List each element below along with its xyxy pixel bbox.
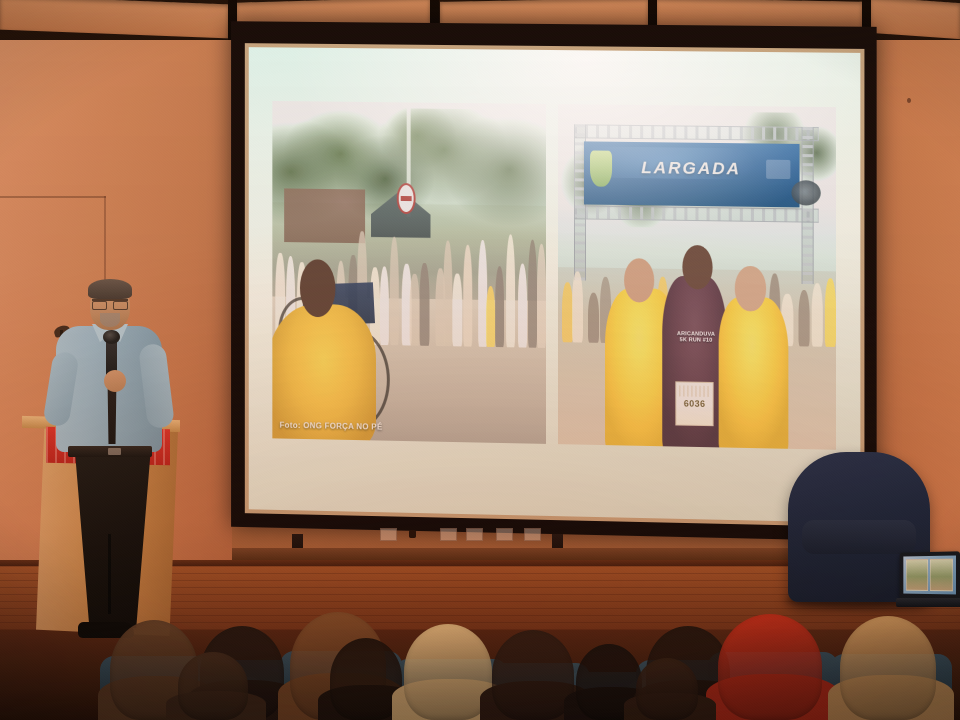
crowd-figure [528,240,537,349]
attendee-9 [718,614,822,720]
laptop-slide-thumb-right [930,559,953,592]
race-bib: 6036 [675,381,714,426]
slide-photo-right: LARGADA ARICANDUVA 5K [558,104,836,450]
wall-outlet [496,528,513,541]
slide-photo-left: Foto: ONG FORÇA NO PÉ [273,101,547,444]
pa-speaker-icon [792,180,822,206]
ceiling-panel [0,0,228,38]
attendee-11 [178,652,248,720]
runner-shirt-text: ARICANDUVA 5K RUN #10 [672,331,719,344]
crowd-figure [410,274,419,346]
crowd-figure [812,283,823,347]
screen-inner-border: Foto: ONG FORÇA NO PÉ [245,43,865,527]
presenter-hand [104,370,126,392]
wall-baseboard [232,548,864,560]
crowd-figure [506,235,515,348]
crowd-figure [588,292,599,342]
wall-fixture [409,530,416,538]
presenter-leg-seam [108,534,111,614]
wall-outlet [440,528,457,541]
audience-seating [0,612,960,720]
runner-head-center [682,245,713,290]
crowd-figure [537,244,546,348]
laptop-screen [903,555,956,594]
eyeglasses-icon [92,299,128,306]
crowd-figure [380,266,389,345]
runner-head-right [735,266,766,311]
presenter-hair [88,279,132,299]
presenter-belt [68,446,152,457]
auditorium-scene: Foto: ONG FORÇA NO PÉ [0,0,960,720]
presenter-beard [100,313,120,327]
no-entry-sign-icon [397,183,416,214]
crowd-figure [389,237,398,346]
wall-outlet [466,528,483,541]
truss-leg-right [801,127,813,285]
laptop-lid [900,551,960,600]
race-bib-number: 6036 [684,399,706,409]
projection-screen: Foto: ONG FORÇA NO PÉ [231,21,877,541]
presenter [44,282,172,642]
runner-yellow-right [718,297,788,450]
wall-mark [907,98,911,103]
crowd-figure [572,271,583,342]
attendee-12 [636,658,698,720]
crowd-figure [825,278,836,346]
attendee-10 [840,616,936,720]
runner-head-left [624,258,654,303]
laptop[interactable] [898,552,960,610]
truss-beam-top [574,124,819,141]
largada-banner-text: LARGADA [584,158,799,181]
crowd-figure [495,266,504,348]
ceiling-panel [870,0,960,39]
attendee-5 [404,624,492,720]
crowd-figure [420,263,429,346]
truss-beam-bottom [574,206,819,224]
microphone-head-icon [103,330,120,344]
crowd-figure [518,263,527,348]
crowd-figure [443,240,452,347]
crowd-figure [799,289,810,346]
runner-shirt-line2: 5K RUN #10 [672,338,719,345]
projected-slide: Foto: ONG FORÇA NO PÉ [273,101,836,450]
screen-surface: Foto: ONG FORÇA NO PÉ [249,47,861,523]
laptop-base[interactable] [896,598,960,607]
wall-outlet [524,528,541,541]
wall-outlet [380,528,397,541]
presenter-trousers [66,452,156,628]
armchair-seat-cushion [802,520,916,554]
wall-seam-horizontal [0,196,106,198]
attendee-6 [492,630,574,720]
largada-banner: LARGADA [584,142,799,208]
crowd-figure [453,274,462,347]
laptop-slide-thumb-left [906,559,928,591]
crowd-figure [463,244,472,347]
foreground-athlete-head [300,260,335,318]
